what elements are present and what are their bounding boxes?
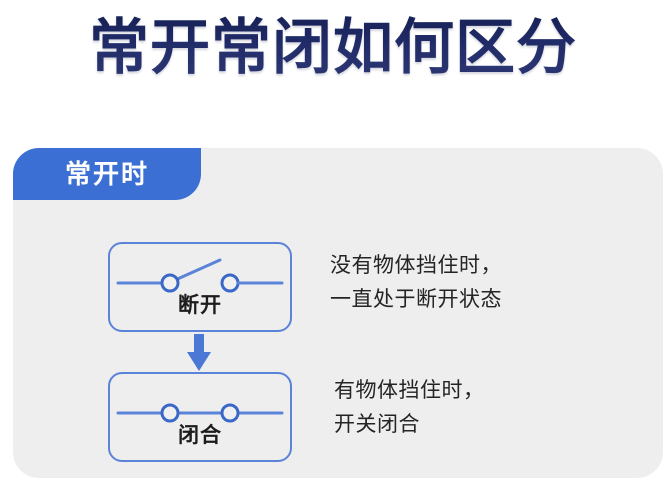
switch-box-open: 断开 (108, 242, 292, 332)
description-open-line-2: 一直处于断开状态 (330, 283, 502, 317)
arrow-down-icon (186, 334, 212, 372)
description-closed-line-1: 有物体挡住时， (334, 374, 485, 408)
page-title: 常开常闭如何区分 (0, 6, 666, 90)
description-open: 没有物体挡住时， 一直处于断开状态 (330, 249, 502, 317)
description-closed: 有物体挡住时， 开关闭合 (334, 374, 485, 442)
switch-state-label-open: 断开 (110, 292, 290, 320)
switch-state-label-closed: 闭合 (110, 422, 290, 450)
description-open-line-1: 没有物体挡住时， (330, 249, 502, 283)
section-badge-label: 常开时 (65, 161, 149, 187)
switch-box-closed: 闭合 (108, 372, 292, 462)
section-badge: 常开时 (13, 148, 201, 200)
description-closed-line-2: 开关闭合 (334, 408, 485, 442)
